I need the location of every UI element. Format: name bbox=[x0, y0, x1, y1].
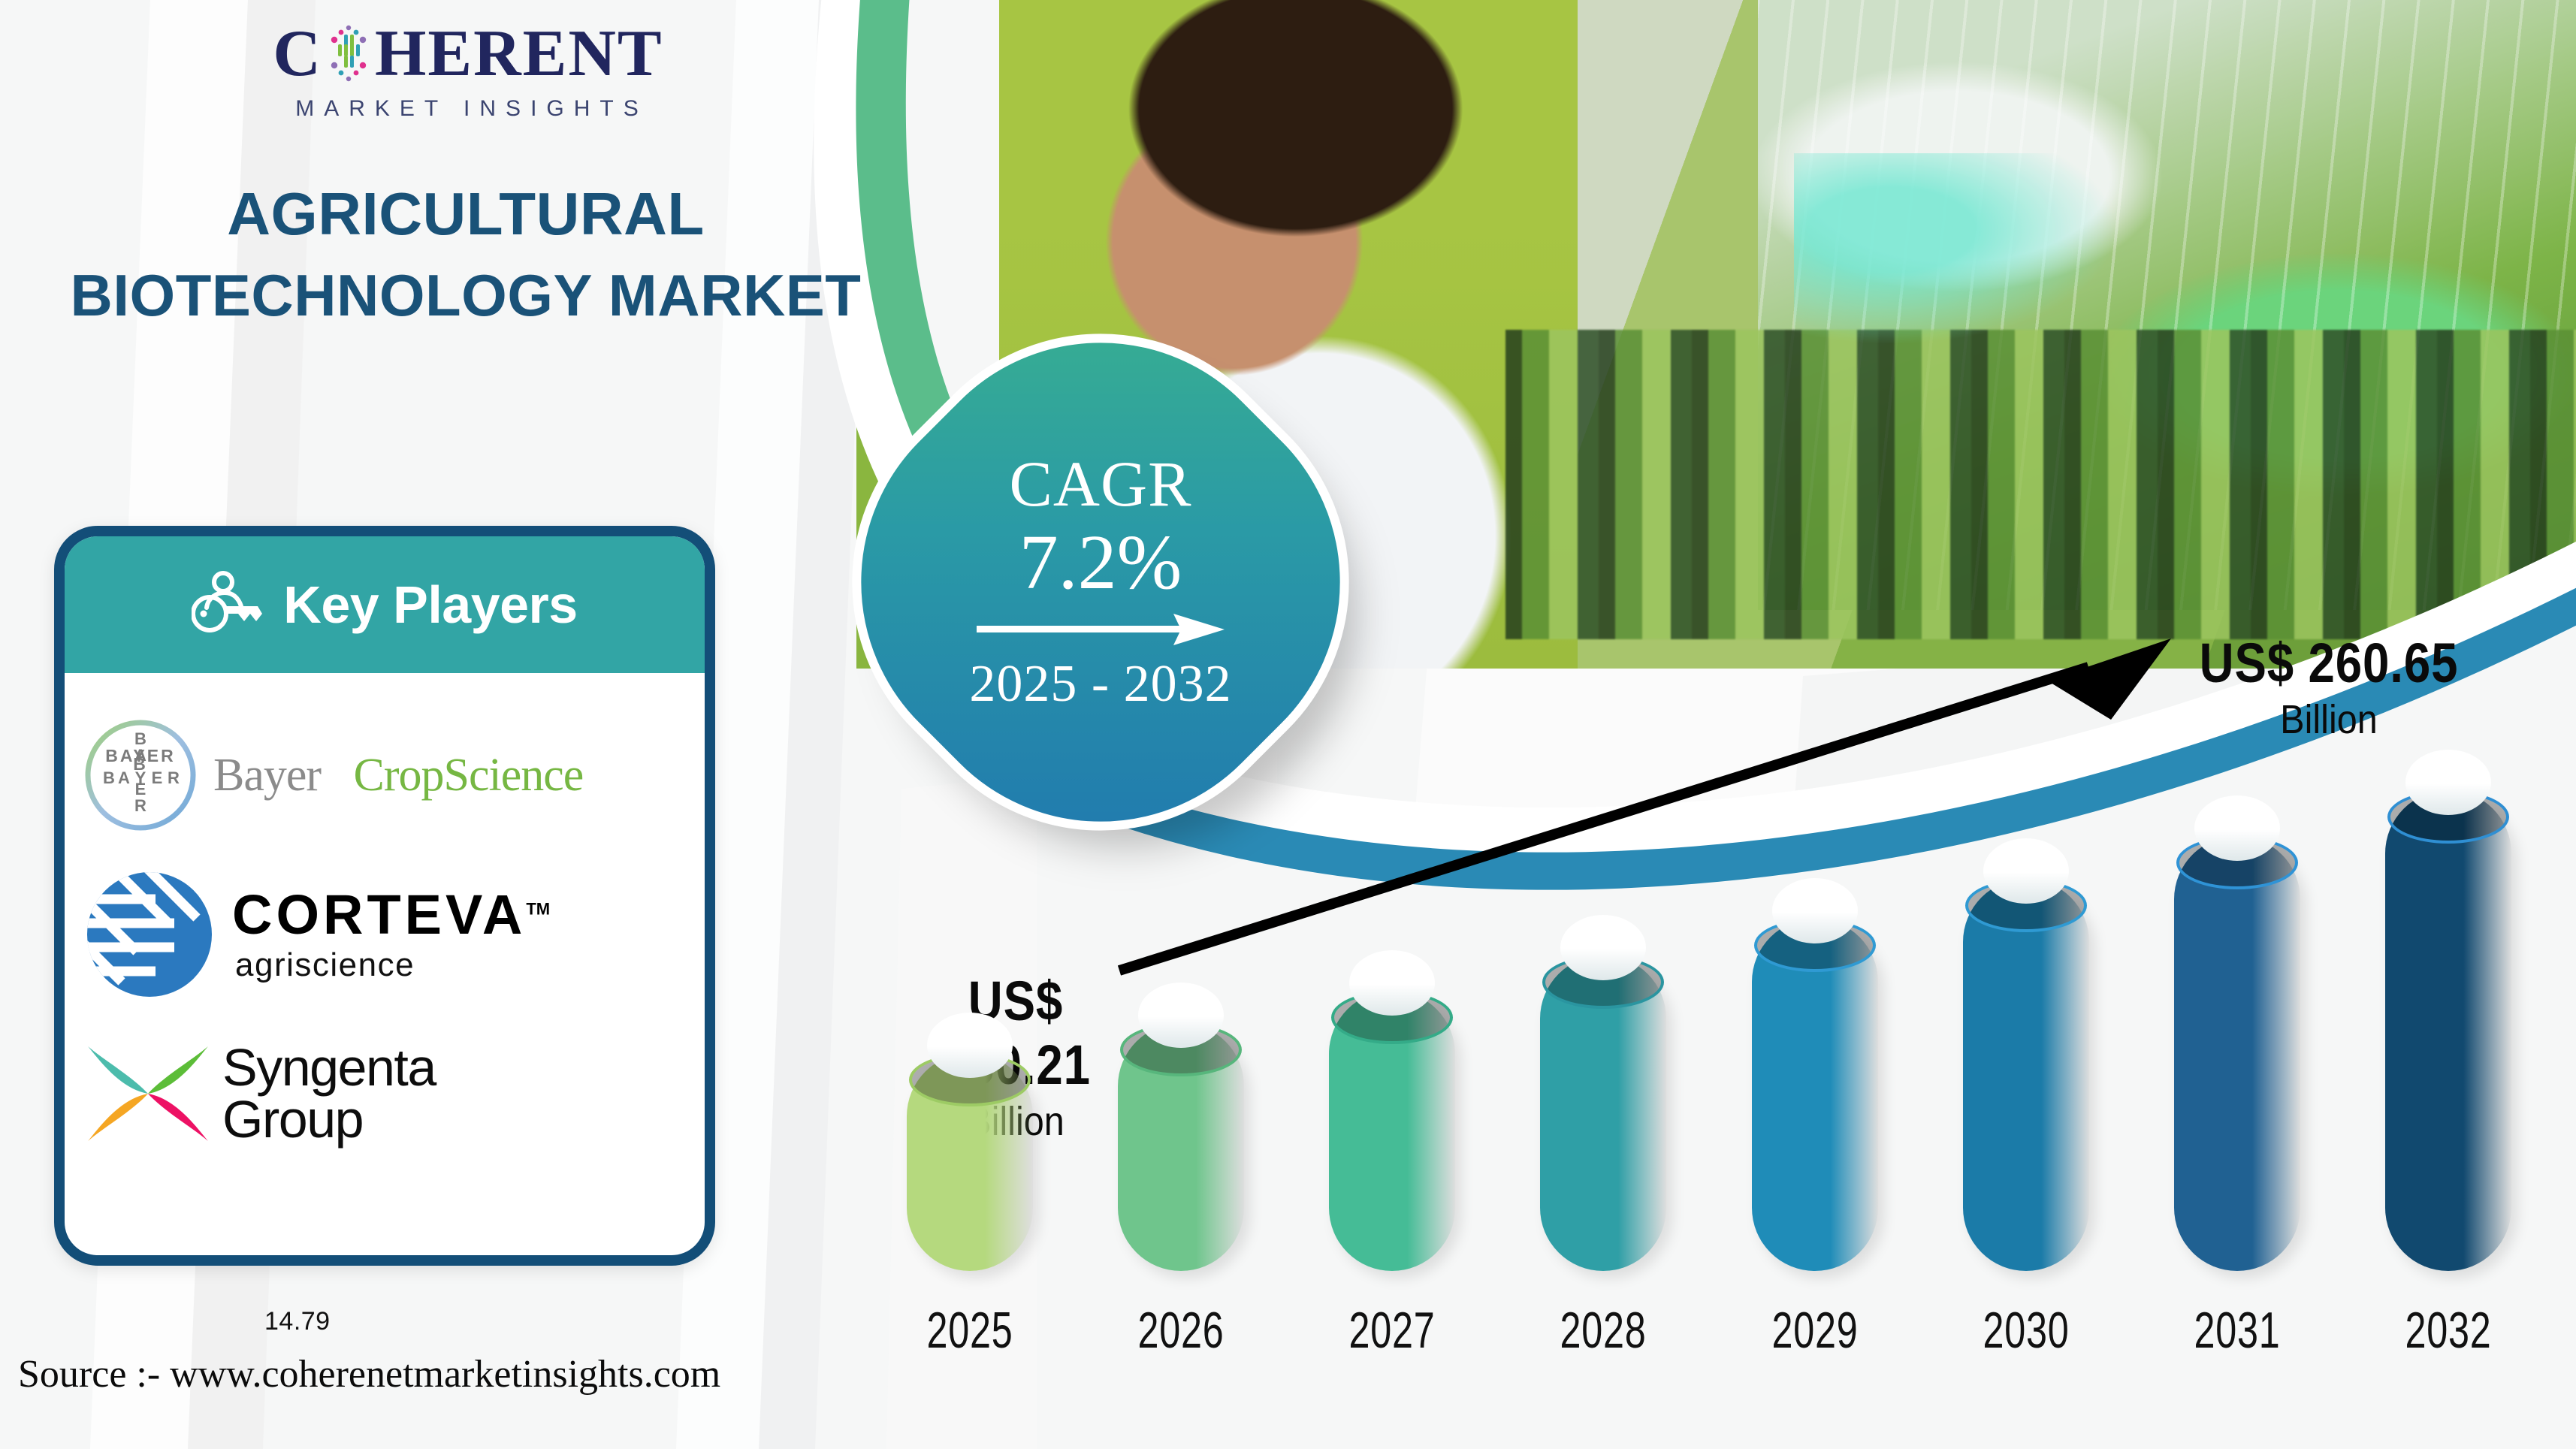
dot-cluster-svg bbox=[321, 22, 376, 86]
source-text: Source :- www.coherenetmarketinsights.co… bbox=[18, 1352, 720, 1396]
bar-2031 bbox=[2174, 836, 2300, 1271]
syngenta-petals-icon bbox=[84, 1031, 212, 1157]
bar-cap bbox=[1772, 878, 1858, 943]
spray-bottle bbox=[1794, 153, 2118, 345]
person-key-icon bbox=[192, 570, 264, 640]
logo-dot-cluster-icon bbox=[321, 22, 376, 86]
syngenta-word-2: Group bbox=[222, 1094, 436, 1146]
list-item: Syngenta Group bbox=[84, 1014, 685, 1173]
x-axis-label-2032: 2032 bbox=[2379, 1301, 2517, 1360]
svg-text:A: A bbox=[134, 746, 146, 765]
corteva-subword: agriscience bbox=[235, 949, 550, 982]
syngenta-wordmark: Syngenta Group bbox=[222, 1042, 436, 1145]
bayer-wordmark: Bayer CropScience bbox=[213, 749, 583, 802]
svg-text:Y: Y bbox=[135, 768, 146, 787]
corteva-word: CORTEVATM bbox=[232, 887, 550, 943]
x-axis-label-2027: 2027 bbox=[1323, 1301, 1461, 1360]
corteva-leaf-icon bbox=[84, 869, 216, 1001]
bar-body bbox=[1963, 879, 2089, 1271]
bar-cap bbox=[2194, 795, 2280, 861]
bar-2030 bbox=[1963, 879, 2089, 1271]
bar-body bbox=[2174, 836, 2300, 1271]
cagr-value: 7.2% bbox=[1019, 521, 1182, 603]
bar-2032 bbox=[2385, 790, 2511, 1271]
key-players-title: Key Players bbox=[283, 575, 577, 635]
x-axis-label-2031: 2031 bbox=[2168, 1301, 2306, 1360]
title-line-2: BIOTECHNOLOGY MARKET bbox=[45, 255, 886, 337]
logo-tagline: MARKET INSIGHTS bbox=[239, 96, 697, 122]
bayer-word-1: Bayer bbox=[213, 750, 321, 801]
bar-cap bbox=[1138, 983, 1224, 1048]
bar-2028 bbox=[1540, 955, 1666, 1271]
svg-text:A: A bbox=[118, 768, 130, 787]
bar-cap bbox=[1560, 915, 1646, 980]
svg-text:B: B bbox=[103, 768, 115, 787]
figure-number: 14.79 bbox=[264, 1307, 331, 1336]
key-players-list: BAYER B B A E R B A E R Y bbox=[65, 673, 705, 1181]
bar-cap bbox=[1349, 950, 1435, 1016]
syngenta-petals-svg bbox=[84, 1031, 212, 1157]
title-line-1: AGRICULTURAL bbox=[45, 173, 886, 255]
bar-2027 bbox=[1329, 991, 1455, 1271]
logo-letter-c: C bbox=[273, 21, 322, 87]
seedling-trays bbox=[1505, 330, 2576, 639]
company-logo: C bbox=[239, 17, 697, 129]
corteva-word-main: CORTEVA bbox=[232, 883, 526, 946]
bar-cap bbox=[1983, 838, 2069, 904]
bar-cap bbox=[2405, 750, 2491, 815]
bar-body bbox=[2385, 790, 2511, 1271]
bar-series: 20252026202720282029203020312032 bbox=[864, 745, 2554, 1271]
x-axis-label-2025: 2025 bbox=[901, 1301, 1039, 1360]
x-axis-label-2028: 2028 bbox=[1534, 1301, 1672, 1360]
market-size-bar-chart: 20252026202720282029203020312032 bbox=[864, 736, 2554, 1360]
bar-2029 bbox=[1752, 919, 1878, 1271]
end-value-amount: US$ 260.65 bbox=[2187, 631, 2471, 695]
syngenta-word-1: Syngenta bbox=[222, 1042, 436, 1094]
key-players-panel: Key Players BAYER bbox=[54, 526, 715, 1266]
bar-2026 bbox=[1118, 1023, 1244, 1271]
logo-letters-herent: HERENT bbox=[375, 21, 663, 87]
bayer-word-2: CropScience bbox=[354, 750, 584, 801]
bar-cap bbox=[927, 1013, 1013, 1078]
corteva-trademark: TM bbox=[526, 899, 550, 918]
list-item: BAYER B B A E R B A E R Y bbox=[84, 696, 685, 855]
bayer-cross-svg: BAYER B B A E R B A E R Y bbox=[84, 719, 197, 832]
svg-text:E: E bbox=[152, 768, 163, 787]
person-key-svg bbox=[192, 570, 264, 636]
corteva-wordmark: CORTEVATM agriscience bbox=[232, 887, 550, 982]
svg-text:R: R bbox=[134, 796, 146, 815]
list-item: CORTEVATM agriscience bbox=[84, 855, 685, 1014]
page-title: AGRICULTURAL BIOTECHNOLOGY MARKET bbox=[45, 173, 886, 337]
x-axis-label-2026: 2026 bbox=[1112, 1301, 1250, 1360]
x-axis-label-2029: 2029 bbox=[1746, 1301, 1884, 1360]
corteva-leaf-svg bbox=[84, 869, 216, 1001]
logo-wordmark: C bbox=[239, 17, 697, 92]
svg-text:R: R bbox=[168, 768, 180, 787]
end-value-callout: US$ 260.65 Billion bbox=[2164, 631, 2494, 743]
cagr-label: CAGR bbox=[1010, 450, 1192, 518]
x-axis-label-2030: 2030 bbox=[1957, 1301, 2095, 1360]
bayer-cross-icon: BAYER B B A E R B A E R Y bbox=[84, 719, 197, 832]
bar-2025 bbox=[907, 1053, 1033, 1271]
key-players-header: Key Players bbox=[65, 536, 705, 673]
infographic-root: C bbox=[0, 0, 2576, 1449]
